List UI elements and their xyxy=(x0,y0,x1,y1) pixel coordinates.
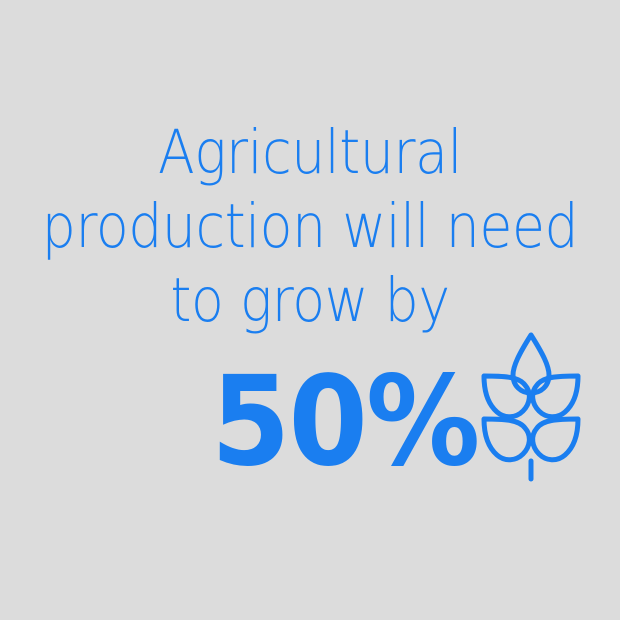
infographic-card: Agricultural production will need to gro… xyxy=(0,0,620,620)
wheat-stalk-icon xyxy=(481,328,581,484)
statistic-row: 50% xyxy=(0,360,620,500)
statistic-value: 50% xyxy=(211,360,443,484)
headline-line-2: production will need xyxy=(37,190,583,264)
headline-text: Agricultural production will need to gro… xyxy=(37,116,583,338)
headline-line-1: Agricultural xyxy=(37,116,583,190)
headline-line-3: to grow by xyxy=(37,264,583,338)
